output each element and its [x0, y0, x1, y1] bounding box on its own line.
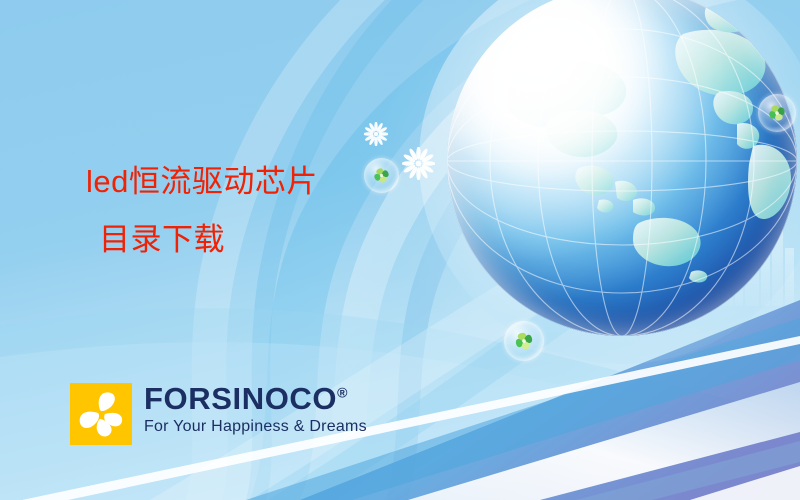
- globe-rim: [447, 0, 797, 336]
- logo-wordmark-text: FORSINOCO: [144, 381, 337, 416]
- bubble-pinwheel-lower: [504, 321, 544, 361]
- pinwheel-icon: [758, 94, 796, 132]
- page-title: led恒流驱动芯片 目录下载: [86, 166, 318, 255]
- flower-small-icon: [364, 122, 388, 146]
- logo-tagline: For Your Happiness & Dreams: [144, 418, 367, 436]
- headline-line-2: 目录下载: [99, 224, 318, 255]
- promo-banner: led恒流驱动芯片 目录下载 FORSINOCO® For Your Happi…: [0, 0, 800, 500]
- globe-earth: [447, 0, 797, 336]
- brand-logo: FORSINOCO® For Your Happiness & Dreams: [70, 383, 367, 445]
- bubble-pinwheel-upper: [364, 158, 399, 193]
- pinwheel-icon: [364, 158, 399, 193]
- logo-mark-pinwheel: [70, 383, 132, 445]
- bubble-pinwheel-right: [758, 94, 796, 132]
- four-petal-icon: [70, 383, 132, 445]
- headline-line-1: led恒流驱动芯片: [86, 166, 318, 197]
- pinwheel-icon: [504, 321, 544, 361]
- logo-wordmark: FORSINOCO®: [144, 383, 367, 414]
- flower-large-icon: [402, 147, 435, 180]
- logo-text-block: FORSINOCO® For Your Happiness & Dreams: [144, 383, 367, 436]
- registered-trademark-icon: ®: [337, 385, 347, 401]
